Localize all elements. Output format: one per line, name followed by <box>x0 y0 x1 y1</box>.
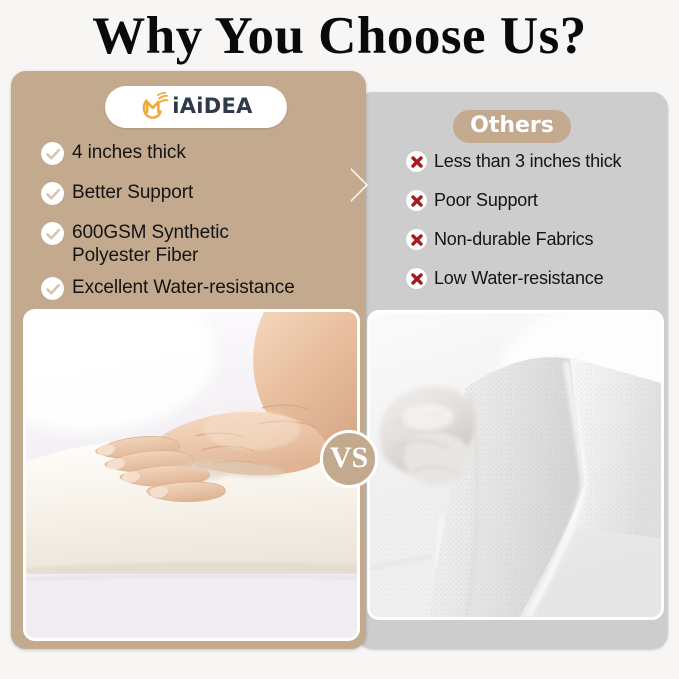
x-icon <box>406 268 427 289</box>
list-item: Poor Support <box>406 189 671 212</box>
list-item-label: 4 inches thick <box>72 141 186 164</box>
x-icon <box>406 229 427 250</box>
page-title: Why You Choose Us? <box>0 6 679 66</box>
list-item: Low Water-resistance <box>406 267 671 290</box>
list-item-label: Less than 3 inches thick <box>434 150 621 173</box>
check-icon <box>41 182 64 205</box>
list-item-label: 600GSM Synthetic Polyester Fiber <box>72 221 229 267</box>
others-panel: Others Less than 3 inches thick <box>357 92 668 649</box>
panel-chevron-icon <box>349 168 366 202</box>
list-item-label: Low Water-resistance <box>434 267 603 290</box>
list-item-label: Non-durable Fabrics <box>434 228 593 251</box>
check-icon <box>41 222 64 245</box>
others-feature-list: Less than 3 inches thick Poor Support <box>406 150 671 306</box>
list-item-label: Better Support <box>72 181 193 204</box>
x-icon <box>406 151 427 172</box>
others-badge: Others <box>453 110 571 143</box>
check-icon <box>41 277 64 300</box>
iaidea-signal-logo-icon <box>139 92 170 123</box>
list-item-label: Excellent Water-resistance <box>72 276 295 299</box>
list-item: 4 inches thick <box>41 141 361 165</box>
comparison-infographic: Why You Choose Us? Others Less than 3 in… <box>0 0 679 679</box>
brand-logo-badge: iAiDEA <box>105 86 287 128</box>
hand-pinching-thin-foam-photo <box>367 310 664 620</box>
others-badge-label: Others <box>470 115 554 139</box>
versus-badge-label: VS <box>330 443 368 475</box>
list-item: Less than 3 inches thick <box>406 150 671 173</box>
list-item: 600GSM Synthetic Polyester Fiber <box>41 221 361 267</box>
hand-pressing-thick-foam-photo <box>23 309 360 641</box>
x-icon <box>406 190 427 211</box>
list-item: Excellent Water-resistance <box>41 276 361 300</box>
list-item: Better Support <box>41 181 361 205</box>
check-icon <box>41 142 64 165</box>
brand-wordmark: iAiDEA <box>172 96 252 118</box>
list-item-label: Poor Support <box>434 189 538 212</box>
list-item: Non-durable Fabrics <box>406 228 671 251</box>
brand-feature-list: 4 inches thick Better Support 600GSM Syn… <box>41 141 361 316</box>
versus-badge: VS <box>320 430 378 488</box>
brand-panel: iAiDEA 4 inches thick Better Support <box>11 71 366 649</box>
